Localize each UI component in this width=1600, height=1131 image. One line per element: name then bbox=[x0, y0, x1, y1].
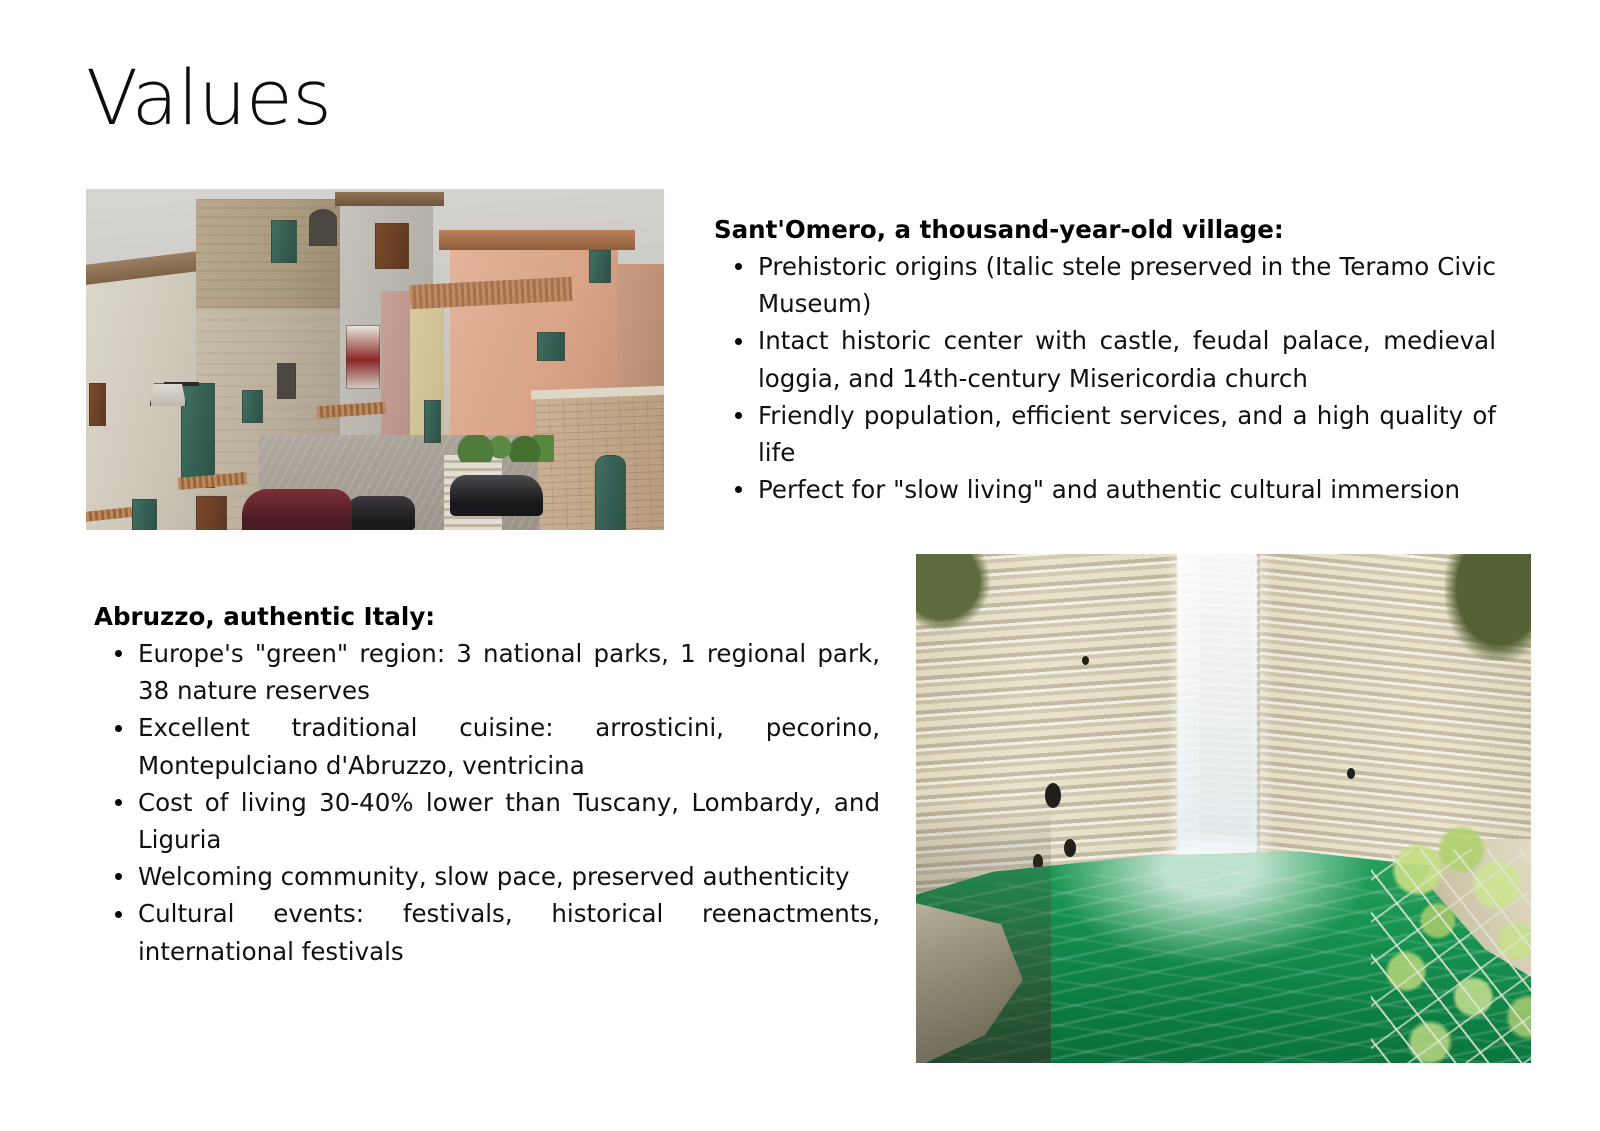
list-item-label: Europe's "green" region: 3 national park… bbox=[138, 635, 880, 709]
grey-building-roof bbox=[335, 192, 445, 206]
santomero-text-block: Sant'Omero, a thousand-year-old village:… bbox=[714, 214, 1496, 508]
list-item-label: Excellent traditional cuisine: arrostici… bbox=[138, 709, 880, 783]
santomero-bullet-list: Prehistoric origins (Italic stele preser… bbox=[714, 248, 1496, 509]
list-item-label: Perfect for "slow living" and authentic … bbox=[758, 471, 1496, 508]
window-dark-small bbox=[277, 363, 296, 399]
bullet-dot-icon bbox=[735, 412, 742, 419]
door-brown-left bbox=[89, 383, 106, 426]
bare-branches bbox=[1371, 849, 1531, 1063]
door-brown-lower bbox=[196, 496, 227, 530]
shutter-green-small bbox=[242, 390, 262, 423]
moss-top-left bbox=[916, 554, 990, 630]
list-item-label: Cost of living 30-40% lower than Tuscany… bbox=[138, 784, 880, 858]
bullet-dot-icon bbox=[735, 486, 742, 493]
abruzzo-bullet-list: Europe's "green" region: 3 national park… bbox=[94, 635, 880, 970]
far-building bbox=[618, 264, 664, 400]
window-doorway-open bbox=[346, 325, 380, 388]
bullet-dot-icon bbox=[115, 911, 122, 918]
list-item: Europe's "green" region: 3 national park… bbox=[94, 635, 880, 709]
bullet-dot-icon bbox=[115, 650, 122, 657]
bullet-dot-icon bbox=[115, 725, 122, 732]
list-item: Excellent traditional cuisine: arrostici… bbox=[94, 709, 880, 783]
moss-top-right bbox=[1445, 554, 1531, 661]
list-item-label: Welcoming community, slow pace, preserve… bbox=[138, 858, 880, 895]
list-item: Welcoming community, slow pace, preserve… bbox=[94, 858, 880, 895]
list-item: Intact historic center with castle, feud… bbox=[714, 322, 1496, 396]
list-item: Prehistoric origins (Italic stele preser… bbox=[714, 248, 1496, 322]
pink-building-roof bbox=[439, 230, 636, 250]
santomero-heading: Sant'Omero, a thousand-year-old village: bbox=[714, 214, 1496, 246]
waterfall-gorge-photo bbox=[916, 554, 1531, 1063]
shutter-green-pink-upper bbox=[589, 250, 611, 283]
list-item: Cost of living 30-40% lower than Tuscany… bbox=[94, 784, 880, 858]
list-item-label: Friendly population, efficient services,… bbox=[758, 397, 1496, 471]
shutter-green-upper bbox=[271, 220, 297, 263]
list-item-label: Prehistoric origins (Italic stele preser… bbox=[758, 248, 1496, 322]
shutter-green-lower-left bbox=[132, 499, 157, 530]
bullet-dot-icon bbox=[115, 799, 122, 806]
abruzzo-heading: Abruzzo, authentic Italy: bbox=[94, 601, 880, 633]
rock-hollow-2 bbox=[1064, 839, 1076, 857]
car-red bbox=[242, 489, 352, 530]
list-item: Cultural events: festivals, historical r… bbox=[94, 895, 880, 969]
car-dark bbox=[346, 496, 415, 530]
gorge-shadow-left bbox=[916, 798, 1051, 1063]
shutter-green-yellow-house bbox=[424, 400, 441, 443]
potted-plants bbox=[456, 435, 554, 462]
shutter-green-tall bbox=[181, 383, 215, 487]
rock-hollow-5 bbox=[1347, 768, 1356, 779]
bullet-dot-icon bbox=[115, 873, 122, 880]
bullet-dot-icon bbox=[735, 338, 742, 345]
list-item: Perfect for "slow living" and authentic … bbox=[714, 471, 1496, 508]
shutter-brown-upper bbox=[375, 223, 409, 269]
abruzzo-text-block: Abruzzo, authentic Italy: Europe's "gree… bbox=[94, 601, 880, 970]
car-black bbox=[450, 475, 542, 516]
page-title: Values bbox=[86, 58, 331, 138]
gate-green-brickwall bbox=[595, 455, 626, 530]
bullet-dot-icon bbox=[735, 263, 742, 270]
village-street-photo bbox=[86, 189, 664, 530]
list-item-label: Intact historic center with castle, feud… bbox=[758, 322, 1496, 396]
window-arch-recess bbox=[309, 209, 337, 245]
shutter-green-pink-house bbox=[537, 332, 565, 361]
list-item-label: Cultural events: festivals, historical r… bbox=[138, 895, 880, 969]
list-item: Friendly population, efficient services,… bbox=[714, 397, 1496, 471]
